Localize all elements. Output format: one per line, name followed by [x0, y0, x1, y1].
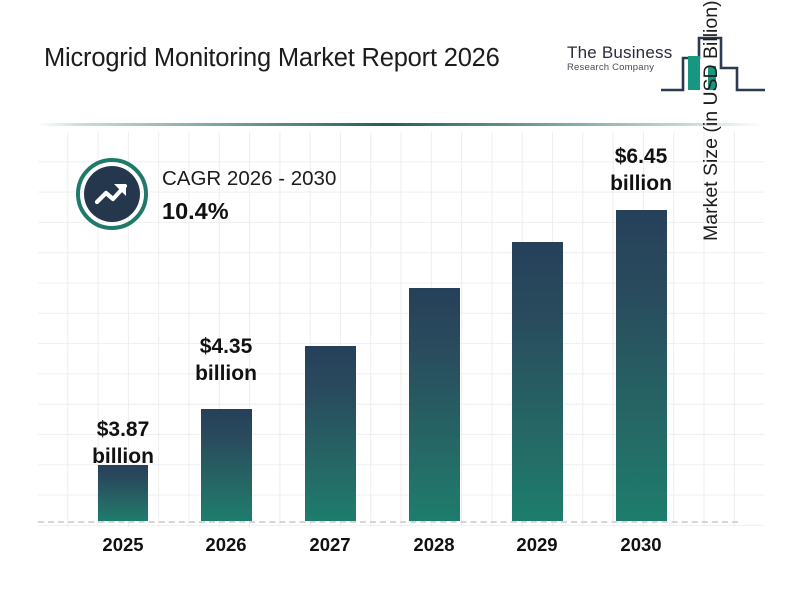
bar-2025[interactable] — [98, 465, 148, 521]
x-tick-2029: 2029 — [497, 532, 577, 558]
bar-2029[interactable] — [512, 242, 563, 521]
bar-label-2030-line1: $6.45 — [581, 143, 701, 170]
bar-label-2026: $4.35 billion — [166, 333, 286, 387]
x-tick-2030: 2030 — [601, 532, 681, 558]
x-tick-2027: 2027 — [290, 532, 370, 558]
cagr-badge — [76, 158, 148, 230]
bar-2030[interactable] — [616, 210, 667, 521]
bar-label-2026-line2: billion — [166, 360, 286, 387]
bar-2027[interactable] — [305, 346, 356, 521]
x-tick-2026: 2026 — [186, 532, 266, 558]
bar-2026[interactable] — [201, 409, 252, 521]
x-tick-2028: 2028 — [394, 532, 474, 558]
bar-label-2025: $3.87 billion — [63, 416, 183, 470]
trending-up-arrow-icon — [84, 166, 140, 222]
cagr-period-label: CAGR 2026 - 2030 — [162, 165, 422, 193]
bar-label-2026-line1: $4.35 — [166, 333, 286, 360]
bar-label-2025-line1: $3.87 — [63, 416, 183, 443]
bar-label-2025-line2: billion — [63, 443, 183, 470]
bar-series: $3.87 billion $4.35 billion $6.45 billio… — [0, 0, 800, 600]
x-tick-2025: 2025 — [83, 532, 163, 558]
cagr-value-label: 10.4% — [162, 195, 422, 227]
bar-2028[interactable] — [409, 288, 460, 521]
cagr-text-block: CAGR 2026 - 2030 10.4% — [162, 165, 422, 227]
bar-label-2030-line2: billion — [581, 170, 701, 197]
bar-label-2030: $6.45 billion — [581, 143, 701, 197]
y-axis-title: Market Size (in USD Billion) — [700, 0, 726, 241]
